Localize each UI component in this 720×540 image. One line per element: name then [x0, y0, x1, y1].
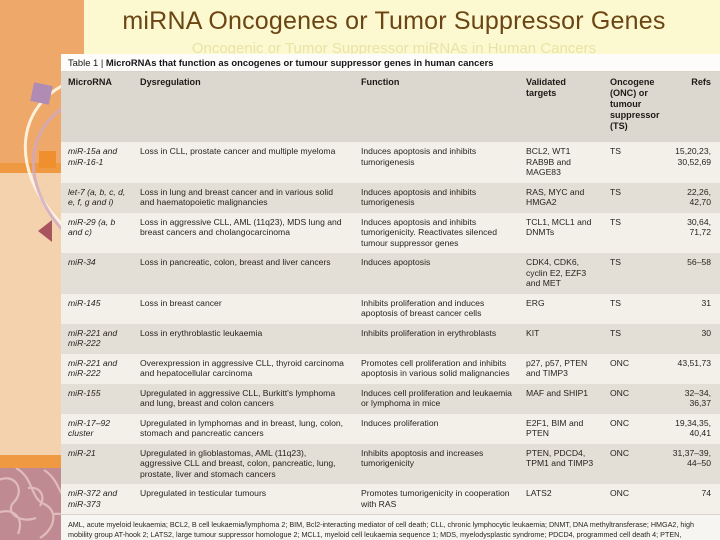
cell-validated-targets: LATS2 — [519, 484, 603, 514]
cell-oncogene-or-tumour-suppressor: TS — [603, 213, 665, 253]
cell-validated-targets: MAF and SHIP1 — [519, 384, 603, 414]
cell-validated-targets: KIT — [519, 324, 603, 354]
cell-function: Induces apoptosis and inhibits tumorigen… — [354, 213, 519, 253]
column-header-oncogene-or-tumour-suppressor: Oncogene (ONC) or tumour suppressor (TS) — [603, 72, 665, 142]
cell-validated-targets: BCL2, WT1 RAB9B and MAGE83 — [519, 142, 603, 182]
cell-validated-targets: E2F1, BIM and PTEN — [519, 414, 603, 444]
cell-oncogene-or-tumour-suppressor: TS — [603, 142, 665, 182]
cell-refs: 22,26, 42,70 — [665, 183, 720, 213]
cell-dysregulation: Upregulated in testicular tumours — [133, 484, 354, 514]
cell-refs: 31,37–39, 44–50 — [665, 444, 720, 484]
table-row: miR-155Upregulated in aggressive CLL, Bu… — [61, 384, 720, 414]
table-body: miR-15a and miR-16-1Loss in CLL, prostat… — [61, 142, 720, 514]
table-row: miR-221 and miR-222Loss in erythroblasti… — [61, 324, 720, 354]
cell-function: Promotes cell proliferation and inhibits… — [354, 354, 519, 384]
cell-microrna: miR-145 — [61, 294, 133, 324]
decorative-triangle-maroon — [38, 220, 52, 242]
cell-function: Inhibits apoptosis and increases tumorig… — [354, 444, 519, 484]
table-caption-title: MicroRNAs that function as oncogenes or … — [106, 57, 494, 68]
cell-microrna: miR-15a and miR-16-1 — [61, 142, 133, 182]
cell-dysregulation: Loss in erythroblastic leukaemia — [133, 324, 354, 354]
cell-oncogene-or-tumour-suppressor: TS — [603, 294, 665, 324]
cell-validated-targets: p27, p57, PTEN and TIMP3 — [519, 354, 603, 384]
cell-refs: 30 — [665, 324, 720, 354]
cell-refs: 43,51,73 — [665, 354, 720, 384]
cell-dysregulation: Overexpression in aggressive CLL, thyroi… — [133, 354, 354, 384]
cell-oncogene-or-tumour-suppressor: ONC — [603, 384, 665, 414]
cell-dysregulation: Loss in breast cancer — [133, 294, 354, 324]
cell-microrna: miR-221 and miR-222 — [61, 324, 133, 354]
table-row: miR-221 and miR-222Overexpression in agg… — [61, 354, 720, 384]
cell-function: Induces apoptosis and inhibits tumorigen… — [354, 142, 519, 182]
table-head: MicroRNA Dysregulation Function Validate… — [61, 72, 720, 142]
cell-function: Induces cell proliferation and leukaemia… — [354, 384, 519, 414]
cell-refs: 74 — [665, 484, 720, 514]
cell-refs: 15,20,23, 30,52,69 — [665, 142, 720, 182]
table-row: let-7 (a, b, c, d, e, f, g and i)Loss in… — [61, 183, 720, 213]
cell-function: Induces apoptosis — [354, 253, 519, 293]
table-caption-label: Table 1 | — [68, 57, 106, 68]
cell-dysregulation: Loss in aggressive CLL, AML (11q23), MDS… — [133, 213, 354, 253]
page-title: miRNA Oncogenes or Tumor Suppressor Gene… — [84, 7, 704, 36]
table-row: miR-34Loss in pancreatic, colon, breast … — [61, 253, 720, 293]
mirna-table: MicroRNA Dysregulation Function Validate… — [61, 72, 720, 514]
cell-microrna: miR-372 and miR-373 — [61, 484, 133, 514]
cell-refs: 32–34, 36,37 — [665, 384, 720, 414]
cell-function: Promotes tumorigenicity in cooperation w… — [354, 484, 519, 514]
cell-dysregulation: Upregulated in glioblastomas, AML (11q23… — [133, 444, 354, 484]
column-header-function: Function — [354, 72, 519, 142]
cell-validated-targets: PTEN, PDCD4, TPM1 and TIMP3 — [519, 444, 603, 484]
cell-microrna: let-7 (a, b, c, d, e, f, g and i) — [61, 183, 133, 213]
cell-microrna: miR-221 and miR-222 — [61, 354, 133, 384]
column-header-validated-targets: Validated targets — [519, 72, 603, 142]
cell-dysregulation: Loss in pancreatic, colon, breast and li… — [133, 253, 354, 293]
table-row: miR-15a and miR-16-1Loss in CLL, prostat… — [61, 142, 720, 182]
cell-dysregulation: Upregulated in lymphomas and in breast, … — [133, 414, 354, 444]
cell-validated-targets: TCL1, MCL1 and DNMTs — [519, 213, 603, 253]
cell-oncogene-or-tumour-suppressor: TS — [603, 253, 665, 293]
decorative-square-orange — [39, 151, 56, 168]
cell-microrna: miR-34 — [61, 253, 133, 293]
cell-refs: 19,34,35, 40,41 — [665, 414, 720, 444]
column-header-microrna: MicroRNA — [61, 72, 133, 142]
cell-dysregulation: Loss in lung and breast cancer and in va… — [133, 183, 354, 213]
table-caption: Table 1 | MicroRNAs that function as onc… — [61, 54, 720, 72]
cell-oncogene-or-tumour-suppressor: ONC — [603, 444, 665, 484]
cell-function: Induces apoptosis and inhibits tumorigen… — [354, 183, 519, 213]
table-panel: Table 1 | MicroRNAs that function as onc… — [61, 54, 720, 540]
cell-oncogene-or-tumour-suppressor: TS — [603, 183, 665, 213]
column-header-refs: Refs — [665, 72, 720, 142]
cell-function: Inhibits proliferation in erythroblasts — [354, 324, 519, 354]
cell-function: Inhibits proliferation and induces apopt… — [354, 294, 519, 324]
cell-validated-targets: ERG — [519, 294, 603, 324]
cell-refs: 31 — [665, 294, 720, 324]
cell-validated-targets: CDK4, CDK6, cyclin E2, EZF3 and MET — [519, 253, 603, 293]
cell-microrna: miR-21 — [61, 444, 133, 484]
table-header-row: MicroRNA Dysregulation Function Validate… — [61, 72, 720, 142]
cell-oncogene-or-tumour-suppressor: ONC — [603, 484, 665, 514]
table-row: miR-21Upregulated in glioblastomas, AML … — [61, 444, 720, 484]
table-row: miR-145Loss in breast cancerInhibits pro… — [61, 294, 720, 324]
cell-refs: 56–58 — [665, 253, 720, 293]
table-row: miR-17–92 clusterUpregulated in lymphoma… — [61, 414, 720, 444]
decorative-square-purple — [30, 82, 53, 105]
cell-microrna: miR-29 (a, b and c) — [61, 213, 133, 253]
table-row: miR-29 (a, b and c)Loss in aggressive CL… — [61, 213, 720, 253]
cell-oncogene-or-tumour-suppressor: ONC — [603, 414, 665, 444]
cell-dysregulation: Loss in CLL, prostate cancer and multipl… — [133, 142, 354, 182]
column-header-dysregulation: Dysregulation — [133, 72, 354, 142]
cell-microrna: miR-155 — [61, 384, 133, 414]
cell-validated-targets: RAS, MYC and HMGA2 — [519, 183, 603, 213]
cell-function: Induces proliferation — [354, 414, 519, 444]
cell-oncogene-or-tumour-suppressor: ONC — [603, 354, 665, 384]
cell-refs: 30,64, 71,72 — [665, 213, 720, 253]
table-row: miR-372 and miR-373Upregulated in testic… — [61, 484, 720, 514]
table-footnote: AML, acute myeloid leukaemia; BCL2, B ce… — [61, 514, 720, 540]
cell-dysregulation: Upregulated in aggressive CLL, Burkitt's… — [133, 384, 354, 414]
cell-oncogene-or-tumour-suppressor: TS — [603, 324, 665, 354]
slide-title-bar: miRNA Oncogenes or Tumor Suppressor Gene… — [84, 0, 720, 52]
cell-microrna: miR-17–92 cluster — [61, 414, 133, 444]
